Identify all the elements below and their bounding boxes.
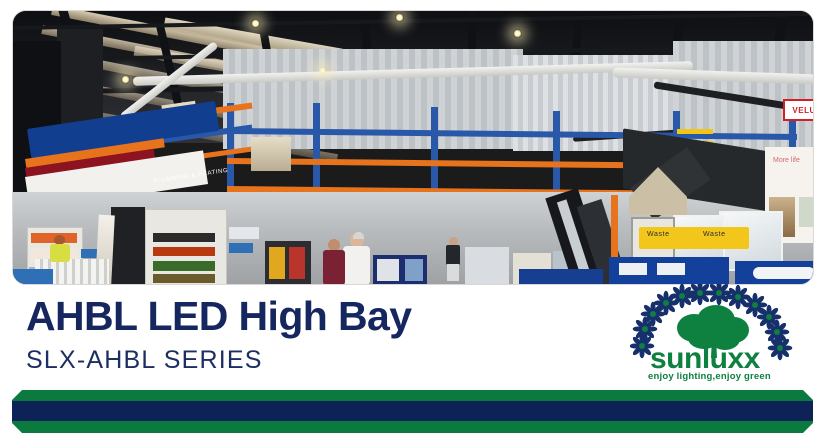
product-display — [465, 247, 509, 284]
product-display — [269, 247, 285, 279]
product-banner-page: VELUX PLUMBING & HEATING ELECTRICAL — [0, 0, 825, 448]
product-stack — [153, 261, 215, 271]
price-label — [657, 263, 685, 275]
product-display — [229, 227, 259, 239]
person-hivis — [49, 235, 71, 261]
product-stack — [153, 274, 215, 283]
bottom-accent-bar-navy-stripe — [12, 401, 813, 421]
high-bay-lamp — [513, 29, 522, 38]
warehouse-interior-photo: VELUX PLUMBING & HEATING ELECTRICAL — [12, 10, 814, 285]
high-bay-lamp — [319, 67, 326, 74]
person-shopper — [343, 233, 371, 284]
product-display — [289, 247, 305, 279]
product-stack — [153, 233, 215, 242]
page-subtitle: SLX-AHBL SERIES — [26, 348, 263, 373]
velux-sign-label: VELUX — [792, 106, 813, 115]
pallet-stock — [251, 137, 291, 171]
person-shopper — [445, 237, 461, 281]
waste-banner-label: Waste — [647, 231, 670, 238]
high-bay-lamp — [251, 19, 260, 28]
sunluxx-logo: sunluxx enjoy lighting,enjoy green — [630, 284, 812, 384]
high-bay-lamp — [395, 13, 404, 22]
product-display — [229, 243, 253, 253]
front-display-unit — [519, 269, 603, 284]
velux-sign: VELUX — [783, 99, 813, 121]
high-bay-lamp — [121, 75, 130, 84]
poster-label: More life — [773, 157, 813, 167]
bottom-accent-bar — [12, 390, 813, 433]
product-stack — [153, 247, 215, 256]
poster-image — [799, 197, 813, 227]
photo-scene: VELUX PLUMBING & HEATING ELECTRICAL — [13, 11, 813, 284]
price-label — [619, 263, 647, 275]
page-title: AHBL LED High Bay — [26, 296, 411, 337]
waste-banner-label: Waste — [703, 231, 726, 238]
price-label — [753, 267, 813, 279]
product-display — [405, 259, 423, 281]
display-panel — [111, 207, 145, 284]
product-display — [377, 259, 399, 281]
ladder — [677, 129, 713, 134]
shelf-edge — [13, 269, 53, 284]
person-staff — [323, 239, 345, 284]
logo-tagline: enjoy lighting,enjoy green — [648, 371, 771, 382]
